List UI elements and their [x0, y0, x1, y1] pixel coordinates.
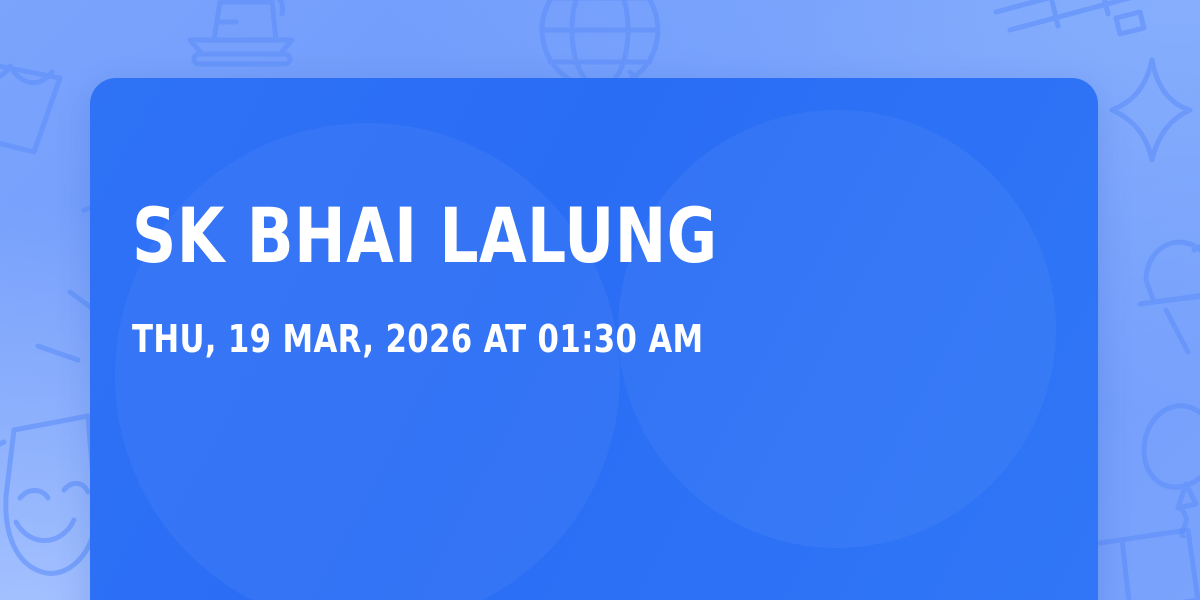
event-datetime: THU, 19 MAR, 2026 AT 01:30 AM: [132, 320, 965, 358]
ticket-icon: [0, 44, 94, 164]
microphone-icon: [1132, 232, 1200, 372]
event-card-content: SK BHAI LALUNG THU, 19 MAR, 2026 AT 01:3…: [132, 198, 1058, 358]
balloon-icon: [1138, 388, 1200, 538]
event-card: SK BHAI LALUNG THU, 19 MAR, 2026 AT 01:3…: [90, 78, 1098, 600]
podium-icon: [176, 0, 306, 68]
bleachers-icon: [988, 0, 1168, 74]
event-title: SK BHAI LALUNG: [132, 198, 965, 274]
sparkle-icon: [1102, 52, 1198, 168]
event-share-card-page: SK BHAI LALUNG THU, 19 MAR, 2026 AT 01:3…: [0, 0, 1200, 600]
